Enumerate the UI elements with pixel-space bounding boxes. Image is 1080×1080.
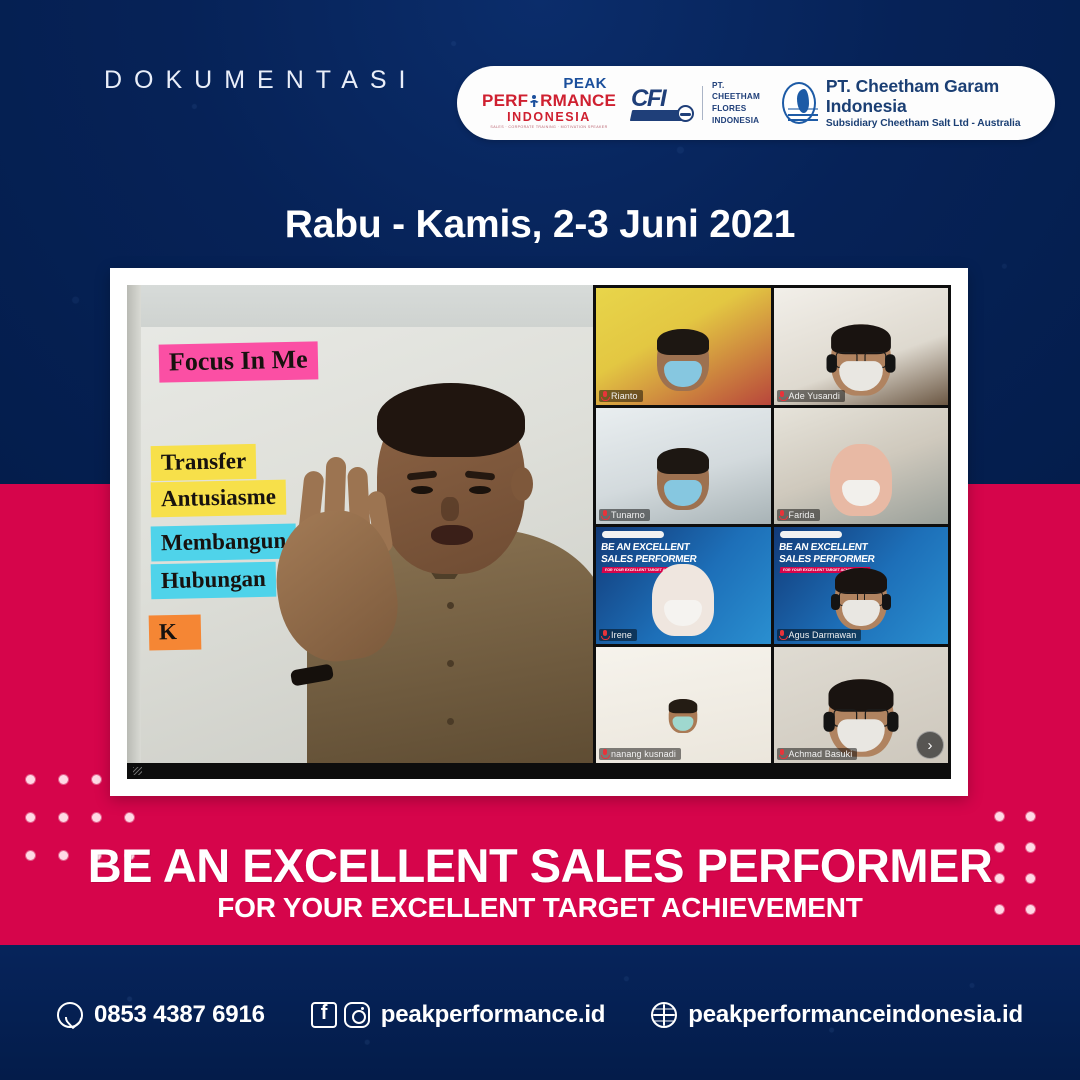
mic-muted-icon	[779, 749, 786, 759]
participant-face	[657, 329, 709, 391]
participant-tile[interactable]: Farida	[774, 408, 949, 525]
mic-muted-icon	[601, 749, 608, 759]
participant-name: Achmad Basuki	[789, 749, 853, 759]
participant-name-chip: Rianto	[599, 390, 643, 402]
participant-face	[657, 568, 709, 630]
participant-face	[835, 568, 887, 630]
slide-line2: SALES PERFORMER	[778, 554, 875, 565]
mic-muted-icon	[779, 630, 786, 640]
participant-name-chip: Irene	[599, 629, 637, 641]
peak-logo-line2: PERF RMANCE	[482, 92, 616, 109]
headphone	[823, 712, 834, 732]
whatsapp-icon	[57, 1002, 83, 1028]
cfi-mark-text: CFI	[631, 85, 665, 113]
cfi-line-3: INDONESIA	[712, 116, 759, 125]
hair	[828, 679, 893, 712]
dot	[59, 813, 68, 822]
participant-name-chip: Ade Yusandi	[777, 390, 845, 402]
cfi-line-2: FLORES	[712, 104, 746, 113]
subheadline: FOR YOUR EXCELLENT TARGET ACHIEVEMENT	[0, 892, 1080, 924]
phone-number: 0853 4387 6916	[94, 1001, 265, 1029]
photo-frame: Focus In Me Transfer Antusiasme Membangu…	[110, 268, 968, 796]
peak-logo-line2-before: PERF	[482, 92, 528, 109]
garam-subtitle: Subsidiary Cheetham Salt Ltd - Australia	[826, 118, 1029, 129]
event-date: Rabu - Kamis, 2-3 Juni 2021	[0, 203, 1080, 247]
speaker-nose	[441, 497, 459, 521]
dot	[26, 775, 35, 784]
hair	[669, 699, 698, 713]
slide-browser-bar	[602, 531, 664, 538]
participant-name: Farida	[789, 510, 815, 520]
sticky-note: Transfer	[151, 444, 257, 481]
garam-logo-text: PT. Cheetham Garam Indonesia Subsidiary …	[826, 77, 1029, 129]
participant-name-chip: Achmad Basuki	[777, 748, 858, 760]
website-url: peakperformanceindonesia.id	[688, 1001, 1023, 1029]
sticky-note: K	[149, 614, 202, 650]
peak-logo-line1: PEAK	[563, 76, 607, 91]
sticky-note: Hubungan	[151, 562, 277, 600]
slide-line1: BE AN EXCELLENT	[600, 542, 690, 553]
participant-face	[828, 679, 893, 757]
peak-logo-line3: INDONESIA	[507, 111, 591, 124]
whiteboard-edge	[127, 285, 141, 779]
participant-name: Ade Yusandi	[789, 391, 840, 401]
dot	[1026, 812, 1035, 821]
participant-face	[669, 699, 698, 733]
wall-top	[127, 285, 593, 327]
seahorse-circle-icon	[782, 82, 816, 124]
headphone	[885, 354, 895, 372]
facebook-icon	[311, 1002, 337, 1028]
globe-icon	[651, 1002, 677, 1028]
headphone	[831, 594, 840, 610]
cfi-line-0: PT.	[712, 81, 724, 90]
participant-name-chip: nanang kusnadi	[599, 748, 681, 760]
shirt-button	[447, 718, 454, 725]
participant-name: nanang kusnadi	[611, 749, 676, 759]
hair	[657, 329, 709, 355]
speaker-ear	[511, 467, 533, 501]
slide-line1: BE AN EXCELLENT	[778, 542, 868, 553]
participant-name-chip: Tunarno	[599, 509, 650, 521]
participant-tile[interactable]: Ade Yusandi	[774, 288, 949, 405]
footer-social[interactable]: peakperformance.id	[311, 1001, 605, 1029]
dot	[125, 813, 134, 822]
kicker-label: DOKUMENTASI	[104, 66, 418, 95]
dot	[26, 813, 35, 822]
participant-tile[interactable]: BE AN EXCELLENTSALES PERFORMERFOR YOUR E…	[596, 527, 771, 644]
speaker-eye	[469, 486, 491, 494]
peak-logo-tagline: SALES · CORPORATE TRAINING · MOTIVATION …	[490, 126, 607, 130]
next-page-arrow-icon[interactable]: ›	[916, 731, 944, 759]
cheetham-garam-logo: PT. Cheetham Garam Indonesia Subsidiary …	[782, 77, 1029, 129]
headline: BE AN EXCELLENT SALES PERFORMER	[0, 838, 1080, 893]
sticky-note: Antusiasme	[151, 480, 287, 518]
participant-tile[interactable]: BE AN EXCELLENTSALES PERFORMERFOR YOUR E…	[774, 527, 949, 644]
participant-face	[657, 448, 709, 510]
participant-tile[interactable]: Rianto	[596, 288, 771, 405]
headphone	[826, 354, 836, 372]
footer-website[interactable]: peakperformanceindonesia.id	[651, 1001, 1023, 1029]
footer-contact-bar: 0853 4387 6916 peakperformance.id peakpe…	[0, 985, 1080, 1045]
footer-phone[interactable]: 0853 4387 6916	[57, 1001, 265, 1029]
mic-muted-icon	[779, 510, 786, 520]
social-handle: peakperformance.id	[381, 1001, 605, 1029]
divider	[702, 86, 703, 120]
video-participant-grid: RiantoAde YusandiTunarnoFaridaBE AN EXCE…	[593, 285, 951, 779]
participant-name: Agus Darmawan	[789, 630, 857, 640]
participant-tile[interactable]: Tunarno	[596, 408, 771, 525]
shirt-button	[447, 660, 454, 667]
globe-icon	[677, 105, 694, 122]
garam-title: PT. Cheetham Garam Indonesia	[826, 77, 1029, 116]
mic-muted-icon	[601, 391, 608, 401]
dot	[92, 775, 101, 784]
instagram-icon	[344, 1002, 370, 1028]
dot	[92, 813, 101, 822]
participant-name: Tunarno	[611, 510, 645, 520]
slide-browser-bar	[780, 531, 842, 538]
mic-muted-icon	[601, 510, 608, 520]
cfi-mark: CFI	[631, 83, 693, 123]
shirt-button	[447, 602, 454, 609]
participant-name-chip: Farida	[777, 509, 820, 521]
peak-logo-line2-after: RMANCE	[540, 92, 616, 109]
participant-name: Rianto	[611, 391, 638, 401]
documentation-photo: Focus In Me Transfer Antusiasme Membangu…	[127, 285, 951, 779]
dot	[59, 775, 68, 784]
mic-muted-icon	[779, 391, 786, 401]
participant-face	[835, 448, 887, 510]
cfi-line-1: CHEETHAM	[712, 92, 760, 101]
headphone	[882, 594, 891, 610]
speaker-figure	[285, 349, 593, 779]
participant-tile[interactable]: nanang kusnadi	[596, 647, 771, 764]
peak-performance-logo: PEAK PERF RMANCE INDONESIA SALES · CORPO…	[483, 76, 615, 129]
cfi-logo-text: PT. CHEETHAM FLORES INDONESIA	[712, 80, 760, 127]
speaker-panel: Focus In Me Transfer Antusiasme Membangu…	[127, 285, 593, 779]
social-icons	[311, 1002, 370, 1028]
video-grid-footer	[127, 763, 951, 779]
mic-muted-icon	[601, 630, 608, 640]
sticky-note: Membangun	[151, 523, 297, 561]
speaker-mouth	[431, 525, 473, 545]
participant-name: Irene	[611, 630, 632, 640]
headphone	[887, 712, 898, 732]
hair	[657, 448, 709, 474]
hair	[835, 568, 887, 594]
poster-canvas: DOKUMENTASI PEAK PERF RMANCE INDONESIA S…	[0, 0, 1080, 1080]
hair	[831, 324, 891, 354]
speaker-eye	[411, 486, 433, 494]
participant-face	[831, 324, 891, 395]
partner-logo-bar: PEAK PERF RMANCE INDONESIA SALES · CORPO…	[457, 66, 1055, 140]
dot	[995, 812, 1004, 821]
participant-name-chip: Agus Darmawan	[777, 629, 862, 641]
speaker-hair	[377, 383, 525, 457]
cfi-logo: CFI PT. CHEETHAM FLORES INDONESIA	[631, 80, 760, 127]
person-figure-icon	[529, 95, 540, 107]
